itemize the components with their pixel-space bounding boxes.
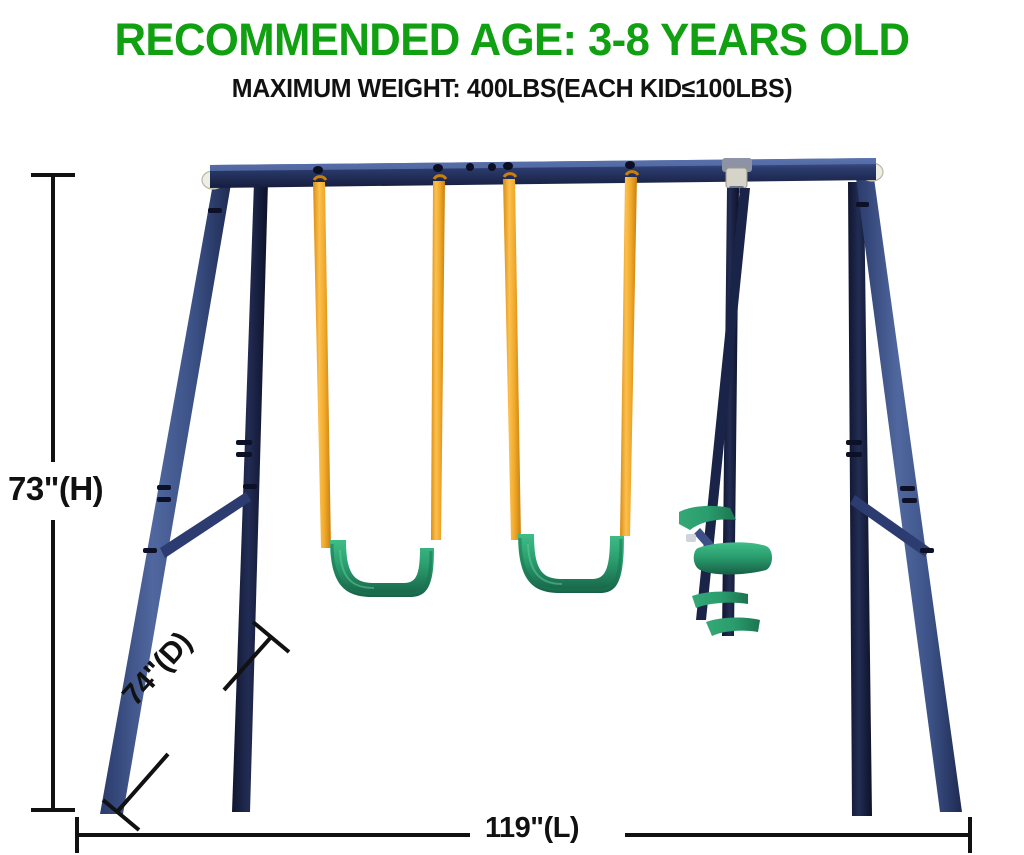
recommended-age-heading: RECOMMENDED AGE: 3-8 YEARS OLD [15, 0, 1008, 64]
maximum-weight-subheading: MAXIMUM WEIGHT: 400LBS(EACH KID≤100LBS) [20, 64, 1003, 103]
length-dimension-label: 119"(L) [478, 812, 586, 845]
diagram-page: RECOMMENDED AGE: 3-8 YEARS OLD MAXIMUM W… [0, 0, 1024, 855]
heading-block: RECOMMENDED AGE: 3-8 YEARS OLD MAXIMUM W… [0, 0, 1024, 102]
depth-dimension-line [103, 622, 289, 830]
dimension-annotations [0, 0, 1024, 855]
height-dimension-label: 73"(H) [8, 470, 103, 508]
